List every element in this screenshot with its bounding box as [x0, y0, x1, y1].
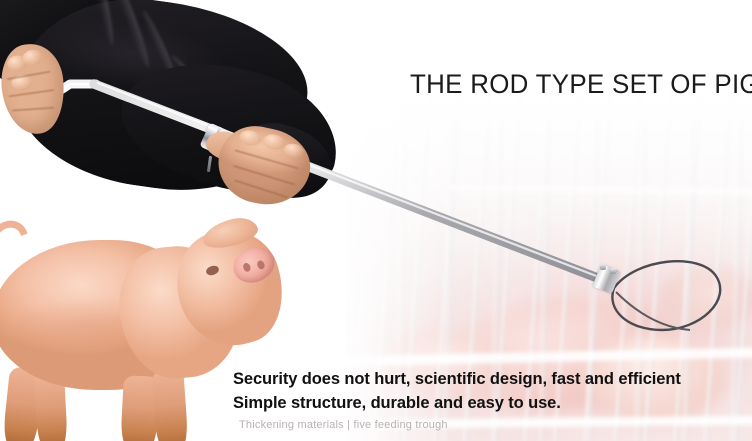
tip-bolt [610, 268, 616, 274]
caption-line-1: Security does not hurt, scientific desig… [233, 370, 681, 389]
sleeve-fold [91, 0, 116, 46]
knuckle [283, 142, 305, 160]
knuckle [238, 128, 263, 147]
footnote: Thickening materials | five feeding trou… [239, 419, 448, 431]
product-banner: THE ROD TYPE SET OF PIG Security does no… [0, 0, 752, 441]
headline: THE ROD TYPE SET OF PIG [410, 69, 752, 100]
pig-nostril [242, 262, 252, 273]
finger-crease [9, 89, 55, 97]
finger-crease [234, 179, 288, 198]
finger-crease [12, 107, 54, 112]
caption-line-2: Simple structure, durable and easy to us… [233, 394, 561, 413]
pig-nostril [256, 259, 266, 270]
sleeve-fold [111, 0, 153, 69]
knuckle [22, 49, 44, 67]
tip-bolt [600, 264, 606, 270]
pig-leg [151, 369, 188, 441]
